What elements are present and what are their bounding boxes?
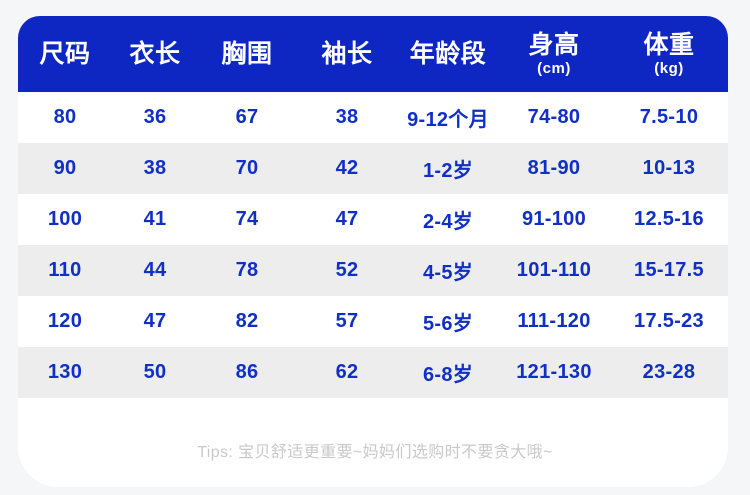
cell-weight: 17.5-23 <box>610 296 728 347</box>
column-header-label: 袖长 <box>321 42 372 67</box>
column-header-inner: 袖长 <box>296 42 398 67</box>
cell-height: 74-80 <box>498 92 610 143</box>
cell-size: 130 <box>18 347 112 398</box>
column-header-label: 衣长 <box>129 42 180 67</box>
column-header-weight: 体重(kg) <box>610 16 728 92</box>
cell-length: 41 <box>112 194 198 245</box>
table-row: 1305086626-8岁121-13023-28 <box>18 347 728 398</box>
cell-size: 80 <box>18 92 112 143</box>
cell-bust: 82 <box>198 296 296 347</box>
cell-age: 2-4岁 <box>398 194 498 245</box>
header-row: 尺码衣长胸围袖长年龄段身高(cm)体重(kg) <box>18 16 728 92</box>
table-row: 1004174472-4岁91-10012.5-16 <box>18 194 728 245</box>
column-header-inner: 衣长 <box>112 42 198 67</box>
cell-weight: 7.5-10 <box>610 92 728 143</box>
cell-sleeve: 62 <box>296 347 398 398</box>
cell-weight: 10-13 <box>610 143 728 194</box>
cell-age: 6-8岁 <box>398 347 498 398</box>
cell-size: 110 <box>18 245 112 296</box>
table-row: 1104478524-5岁101-11015-17.5 <box>18 245 728 296</box>
cell-bust: 78 <box>198 245 296 296</box>
cell-age: 1-2岁 <box>398 143 498 194</box>
cell-length: 36 <box>112 92 198 143</box>
cell-height: 91-100 <box>498 194 610 245</box>
cell-age: 5-6岁 <box>398 296 498 347</box>
cell-length: 38 <box>112 143 198 194</box>
cell-weight: 12.5-16 <box>610 194 728 245</box>
column-header-age: 年龄段 <box>398 16 498 92</box>
cell-age: 9-12个月 <box>398 92 498 143</box>
column-header-sleeve: 袖长 <box>296 16 398 92</box>
cell-height: 111-120 <box>498 296 610 347</box>
cell-bust: 67 <box>198 92 296 143</box>
column-header-inner: 年龄段 <box>398 42 498 67</box>
cell-length: 50 <box>112 347 198 398</box>
column-header-unit: (kg) <box>654 61 684 76</box>
column-header-inner: 胸围 <box>198 42 296 67</box>
size-chart-card: 尺码衣长胸围袖长年龄段身高(cm)体重(kg) 803667389-12个月74… <box>18 16 728 487</box>
size-chart-table: 尺码衣长胸围袖长年龄段身高(cm)体重(kg) 803667389-12个月74… <box>18 16 728 398</box>
column-header-height: 身高(cm) <box>498 16 610 92</box>
column-header-inner: 尺码 <box>18 42 112 67</box>
column-header-label: 尺码 <box>39 42 90 67</box>
cell-height: 101-110 <box>498 245 610 296</box>
column-header-label: 胸围 <box>221 42 272 67</box>
cell-sleeve: 47 <box>296 194 398 245</box>
column-header-label: 体重 <box>643 33 694 58</box>
column-header-bust: 胸围 <box>198 16 296 92</box>
column-header-inner: 体重(kg) <box>610 33 728 76</box>
cell-bust: 86 <box>198 347 296 398</box>
cell-height: 121-130 <box>498 347 610 398</box>
table-row: 1204782575-6岁111-12017.5-23 <box>18 296 728 347</box>
cell-length: 47 <box>112 296 198 347</box>
cell-size: 90 <box>18 143 112 194</box>
cell-bust: 74 <box>198 194 296 245</box>
column-header-label: 年龄段 <box>410 42 487 67</box>
cell-sleeve: 52 <box>296 245 398 296</box>
column-header-length: 衣长 <box>112 16 198 92</box>
cell-size: 120 <box>18 296 112 347</box>
table-body: 803667389-12个月74-807.5-10903870421-2岁81-… <box>18 92 728 398</box>
size-chart-page: 尺码衣长胸围袖长年龄段身高(cm)体重(kg) 803667389-12个月74… <box>0 0 750 495</box>
table-header: 尺码衣长胸围袖长年龄段身高(cm)体重(kg) <box>18 16 728 92</box>
footer-tip: Tips: 宝贝舒适更重要~妈妈们选购时不要贪大哦~ <box>0 438 750 462</box>
cell-age: 4-5岁 <box>398 245 498 296</box>
cell-size: 100 <box>18 194 112 245</box>
cell-sleeve: 38 <box>296 92 398 143</box>
column-header-label: 身高 <box>528 33 579 58</box>
cell-sleeve: 57 <box>296 296 398 347</box>
column-header-unit: (cm) <box>537 61 571 76</box>
cell-sleeve: 42 <box>296 143 398 194</box>
cell-length: 44 <box>112 245 198 296</box>
cell-weight: 15-17.5 <box>610 245 728 296</box>
cell-bust: 70 <box>198 143 296 194</box>
cell-weight: 23-28 <box>610 347 728 398</box>
cell-height: 81-90 <box>498 143 610 194</box>
table-row: 803667389-12个月74-807.5-10 <box>18 92 728 143</box>
column-header-inner: 身高(cm) <box>498 33 610 76</box>
table-row: 903870421-2岁81-9010-13 <box>18 143 728 194</box>
column-header-size: 尺码 <box>18 16 112 92</box>
